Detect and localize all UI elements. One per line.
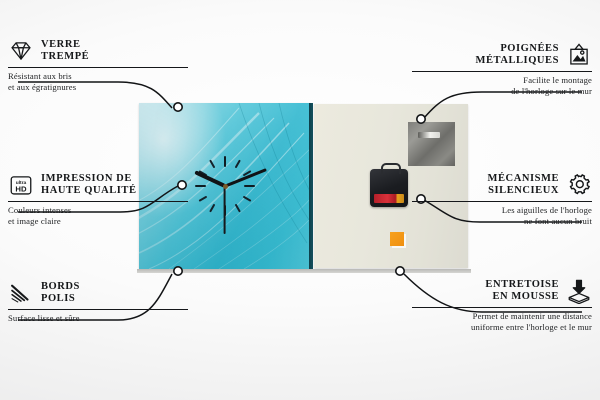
gear-icon	[566, 172, 592, 198]
clock-second-hand	[224, 186, 226, 234]
clock-mechanism	[370, 169, 408, 207]
metal-hanger-plate	[408, 122, 455, 166]
mechanism-hook	[381, 163, 401, 174]
ultra-hd-icon: ultra HD	[8, 172, 34, 198]
callout-subtitle: Les aiguilles de l'horloge ne font aucun…	[412, 205, 592, 226]
callout-subtitle: Permet de maintenir une distance uniform…	[412, 311, 592, 332]
callout-rule	[412, 201, 592, 202]
picture-frame-hanging-icon	[566, 42, 592, 68]
panel-side-edge	[309, 103, 313, 269]
polished-edges-icon	[8, 280, 34, 306]
callout-rule	[412, 71, 592, 72]
callout-title: IMPRESSION DE HAUTE QUALITÉ	[41, 173, 137, 198]
callout-rule	[412, 307, 592, 308]
callout-subtitle: Couleurs intenses et image claire	[8, 205, 188, 226]
callout-verre-trempe: VERRE TREMPÉ Résistant aux bris et aux é…	[8, 38, 188, 92]
foam-spacer-arrow-icon	[566, 278, 592, 304]
callout-bords-polis: BORDS POLIS Surface lisse et sûre	[8, 280, 188, 324]
callout-rule	[8, 309, 188, 310]
callout-title: BORDS POLIS	[41, 281, 80, 306]
product-base-strip	[137, 269, 471, 273]
hanger-slot	[418, 132, 440, 138]
callout-poignees-metalliques: POIGNÉES MÉTALLIQUES Facilite le montage…	[412, 42, 592, 96]
callout-title: POIGNÉES MÉTALLIQUES	[476, 43, 559, 68]
callout-entretoise-en-mousse: ENTRETOISE EN MOUSSE Permet de maintenir…	[412, 278, 592, 332]
callout-title: ENTRETOISE EN MOUSSE	[485, 279, 559, 304]
callout-impression-haute-qualite: ultra HD IMPRESSION DE HAUTE QUALITÉ Cou…	[8, 172, 188, 226]
callout-title: VERRE TREMPÉ	[41, 39, 89, 64]
diamond-icon	[8, 38, 34, 64]
svg-text:HD: HD	[15, 185, 27, 194]
callout-mecanisme-silencieux: MÉCANISME SILENCIEUX Les aiguilles de l'…	[412, 172, 592, 226]
callout-rule	[8, 201, 188, 202]
callout-subtitle: Résistant aux bris et aux égratignures	[8, 71, 188, 92]
callout-subtitle: Surface lisse et sûre	[8, 313, 188, 323]
battery	[374, 194, 404, 203]
infographic-stage: VERRE TREMPÉ Résistant aux bris et aux é…	[0, 0, 600, 400]
callout-rule	[8, 67, 188, 68]
callout-subtitle: Facilite le montage de l'horloge sur le …	[412, 75, 592, 96]
foam-spacer	[390, 232, 404, 246]
clock-center-cap	[223, 184, 228, 189]
callout-title: MÉCANISME SILENCIEUX	[488, 173, 559, 198]
